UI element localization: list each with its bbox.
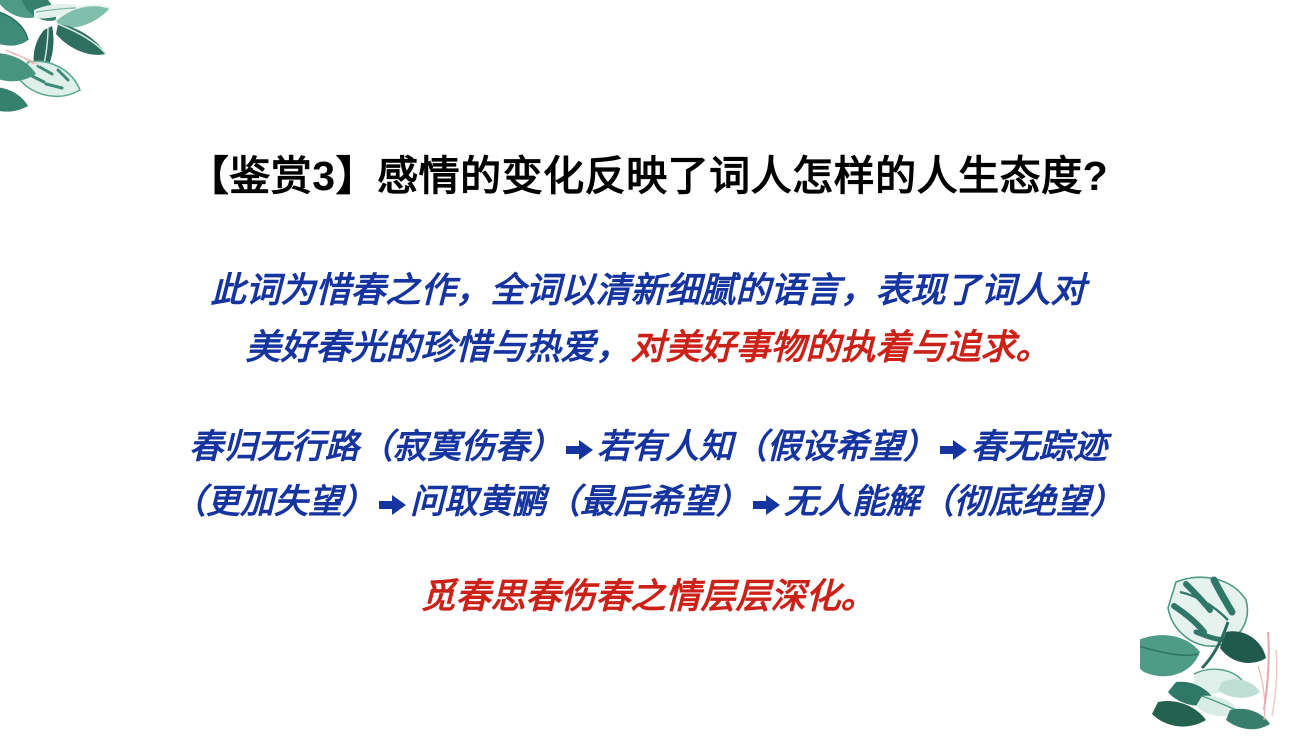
chain-step-3: 春无踪迹 [971,429,1107,466]
chain-step-3-suffix: （更加失望） [172,484,376,521]
slide-canvas: 【鉴赏3】感情的变化反映了词人怎样的人生态度? 此词为惜春之作，全词以清新细腻的… [0,0,1296,729]
chain-step-2: 若有人知（假设希望） [597,429,937,466]
summary-line-2-blue: 美好春光的珍惜与热爱， [245,328,630,367]
arrow-right-icon [939,438,969,462]
chain-step-1: 春归无行路（寂寞伤春） [189,429,563,466]
tropical-leaves-icon [0,0,144,142]
chain-line-2: （更加失望）问取黄鹂（最后希望）无人能解（彻底绝望） [0,475,1296,530]
arrow-right-icon [752,493,782,517]
summary-line-1: 此词为惜春之作，全词以清新细腻的语言，表现了词人对 [0,262,1296,319]
summary-paragraph: 此词为惜春之作，全词以清新细腻的语言，表现了词人对 美好春光的珍惜与热爱，对美好… [0,262,1296,376]
arrow-right-icon [565,438,595,462]
summary-line-2: 美好春光的珍惜与热爱，对美好事物的执着与追求。 [0,319,1296,376]
conclusion-text: 觅春思春伤春之情层层深化。 [0,572,1296,622]
chain-line-1: 春归无行路（寂寞伤春）若有人知（假设希望）春无踪迹 [0,420,1296,475]
chain-step-5: 无人能解（彻底绝望） [784,484,1124,521]
summary-line-2-red: 对美好事物的执着与追求。 [631,328,1051,367]
page-title: 【鉴赏3】感情的变化反映了词人怎样的人生态度? [0,152,1296,201]
arrow-right-icon [378,493,408,517]
chain-step-4: 问取黄鹂（最后希望） [410,484,750,521]
emotion-chain: 春归无行路（寂寞伤春）若有人知（假设希望）春无踪迹 （更加失望）问取黄鹂（最后希… [0,420,1296,530]
conclusion-paragraph: 觅春思春伤春之情层层深化。 [0,572,1296,622]
